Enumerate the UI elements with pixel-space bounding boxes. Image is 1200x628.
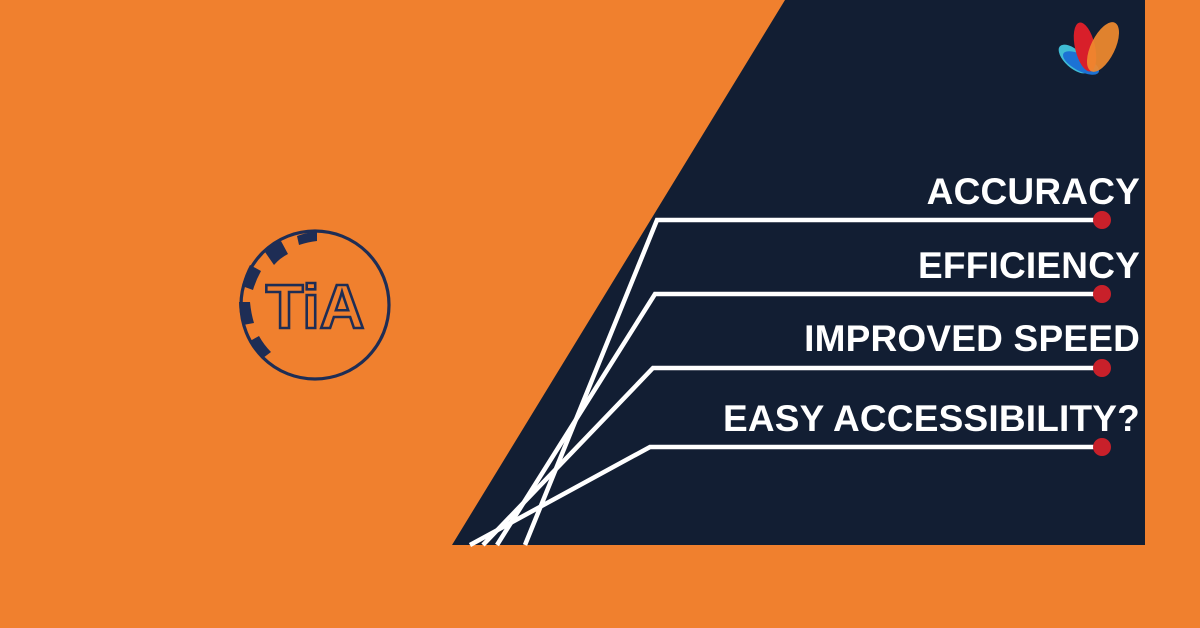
tia-badge-graphic: TiA — [225, 215, 405, 395]
tia-badge: TiA — [225, 215, 405, 395]
connector-dot-1 — [1093, 285, 1111, 303]
butterfly-logo — [1055, 14, 1133, 86]
tia-ring-notch-top — [265, 241, 288, 265]
tia-ring-notch-left-upper — [242, 265, 261, 290]
feature-label-efficiency: EFFICIENCY — [918, 247, 1140, 284]
butterfly-logo-graphic — [1055, 14, 1133, 86]
connector-dot-0 — [1093, 211, 1111, 229]
feature-label-accuracy: ACCURACY — [927, 173, 1140, 210]
connector-dot-3 — [1093, 438, 1111, 456]
connector-dot-2 — [1093, 359, 1111, 377]
panel-and-connectors — [0, 0, 1200, 628]
feature-label-improved-speed: IMPROVED SPEED — [804, 320, 1140, 357]
feature-label-easy-accessibility: EASY ACCESSIBILITY? — [723, 400, 1140, 437]
tia-wordmark: TiA — [266, 273, 365, 342]
poster-canvas: TiA ACCURACY EFFICIENCY IMPROVED SPEED E… — [0, 0, 1200, 628]
